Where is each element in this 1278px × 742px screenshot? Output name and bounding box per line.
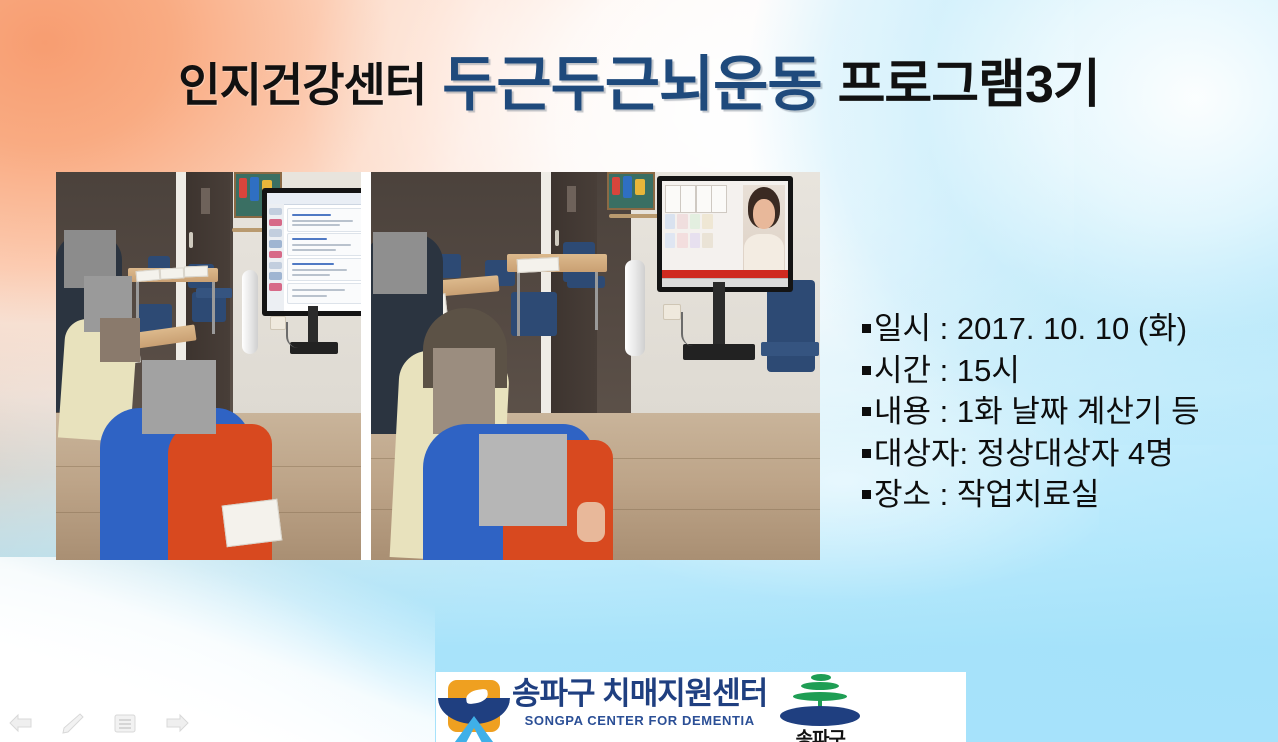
menu-icon[interactable] [112, 712, 138, 734]
photo-tv-screen [662, 181, 788, 287]
presentation-toolbar[interactable] [8, 712, 190, 734]
photo-participants-watching-lesson [371, 172, 820, 560]
list-item: 대상자: 정상대상자 4명 [862, 433, 1274, 475]
photo-face-mosaic [433, 348, 495, 434]
photo-face-mosaic [479, 434, 567, 526]
list-item-label: 시간 : 15시 [874, 350, 1020, 392]
photo-air-purifier [625, 260, 645, 356]
list-item: 장소 : 작업치료실 [862, 474, 1274, 516]
presentation-slide: 인지건강센터 두근두근뇌운동 프로그램3기 [0, 0, 1278, 742]
title-prefix: 인지건강센터 [178, 62, 426, 108]
photo-face-mosaic [373, 232, 427, 294]
photo-worksheet [222, 499, 283, 548]
footer-logo-english: SONGPA CENTER FOR DEMENTIA [512, 713, 767, 728]
photo-door-handle [189, 232, 193, 248]
photo-chair-right [767, 280, 815, 372]
songpa-gu-emblem-icon: 송파구 SONGPA-GU [777, 672, 863, 742]
square-bullet-icon [862, 324, 871, 333]
list-item: 시간 : 15시 [862, 350, 1274, 392]
photo-hand [577, 502, 605, 542]
list-item: 일시 : 2017. 10. 10 (화) [862, 308, 1274, 350]
forward-arrow-icon[interactable] [164, 712, 190, 734]
photo-classroom-with-monitor [56, 172, 361, 560]
photo-notice-board [607, 172, 655, 210]
square-bullet-icon [862, 407, 871, 416]
square-bullet-icon [862, 490, 871, 499]
songpa-dementia-center-logo-icon [442, 676, 504, 738]
list-item-label: 대상자: 정상대상자 4명 [874, 433, 1174, 475]
footer-logo-korean: 송파구 치매지원센터 [512, 678, 767, 711]
list-item-label: 장소 : 작업치료실 [874, 474, 1099, 516]
songpa-gu-korean: 송파구 [777, 724, 863, 742]
back-arrow-icon[interactable] [8, 712, 34, 734]
photo-door-window [201, 188, 210, 214]
title-suffix: 프로그램3기 [838, 59, 1100, 111]
list-item: 내용 : 1화 날짜 계산기 등 [862, 391, 1274, 433]
slide-title: 인지건강센터 두근두근뇌운동 프로그램3기 [0, 44, 1278, 126]
photo-monitor [262, 188, 361, 316]
detail-list: 일시 : 2017. 10. 10 (화) 시간 : 15시 내용 : 1화 날… [862, 308, 1274, 516]
photo-air-purifier [242, 270, 258, 354]
footer-logo-strip: 송파구 치매지원센터 SONGPA CENTER FOR DEMENTIA 송파… [436, 672, 966, 742]
photo-group [56, 172, 820, 560]
footer-logo-text: 송파구 치매지원센터 SONGPA CENTER FOR DEMENTIA [512, 672, 767, 728]
photo-monitor-screen [267, 193, 361, 311]
pen-icon[interactable] [60, 712, 86, 734]
square-bullet-icon [862, 449, 871, 458]
photo-face-mosaic [100, 318, 140, 362]
title-highlight: 두근두근뇌운동 [442, 55, 821, 115]
list-item-label: 내용 : 1화 날짜 계산기 등 [874, 391, 1200, 433]
photo-tv [657, 176, 793, 292]
list-item-label: 일시 : 2017. 10. 10 (화) [874, 308, 1187, 350]
photo-face-mosaic [142, 360, 216, 434]
square-bullet-icon [862, 366, 871, 375]
